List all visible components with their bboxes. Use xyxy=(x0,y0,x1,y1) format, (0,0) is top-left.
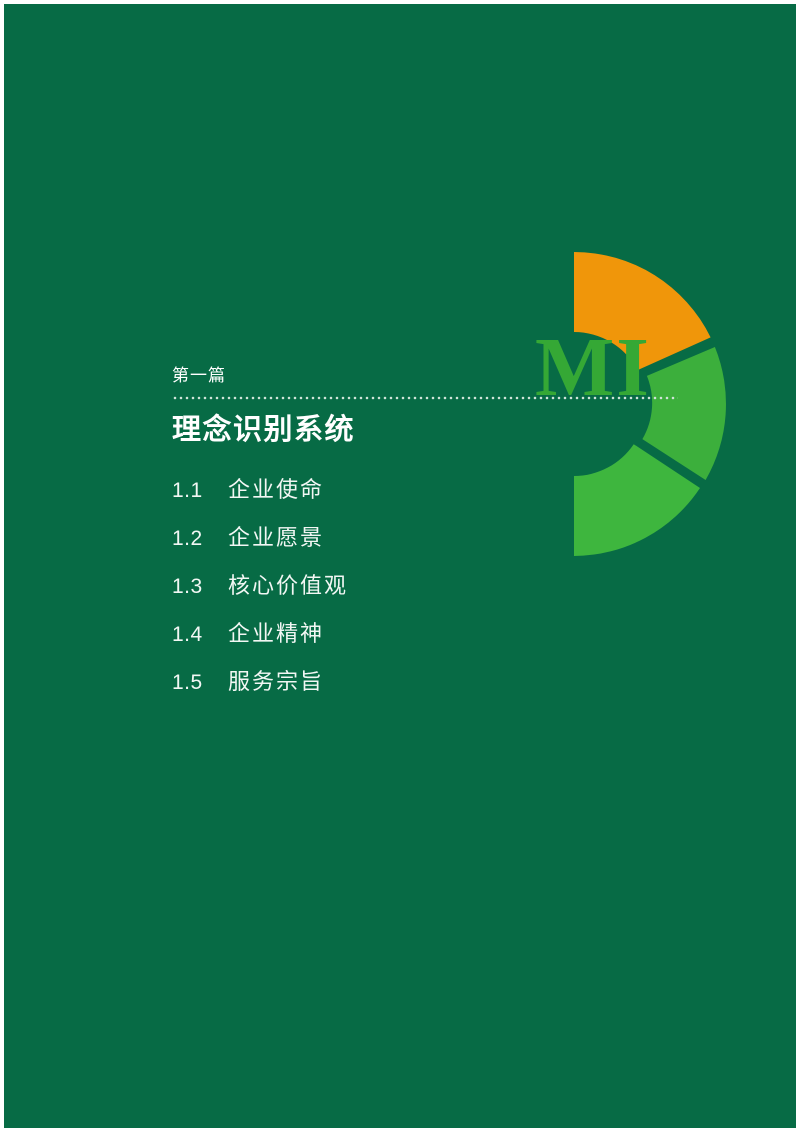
toc-item-label: 服务宗旨 xyxy=(228,664,324,696)
toc-item-1[interactable]: 1.1 企业使命 xyxy=(172,472,692,520)
toc-item-label: 企业愿景 xyxy=(228,520,324,552)
toc-item-label: 核心价值观 xyxy=(228,568,348,600)
section-title: 理念识别系统 xyxy=(172,410,692,450)
toc-item-4[interactable]: 1.4 企业精神 xyxy=(172,616,692,664)
toc-item-2[interactable]: 1.2 企业愿景 xyxy=(172,520,692,568)
part-label: 第一篇 xyxy=(172,364,692,388)
table-of-contents: 1.1 企业使命 1.2 企业愿景 1.3 核心价值观 1.4 企业精神 1.5 xyxy=(172,472,692,712)
toc-item-5[interactable]: 1.5 服务宗旨 xyxy=(172,664,692,712)
toc-item-3[interactable]: 1.3 核心价值观 xyxy=(172,568,692,616)
toc-item-number: 1.3 xyxy=(172,575,228,599)
toc-item-number: 1.1 xyxy=(172,479,228,503)
toc-item-number: 1.5 xyxy=(172,671,228,695)
toc-item-label: 企业使命 xyxy=(228,472,324,504)
toc-item-number: 1.4 xyxy=(172,623,228,647)
dotted-divider xyxy=(172,396,678,400)
document-page: MI 第一篇 理念识别系统 1.1 企业使命 1.2 企业愿景 1.3 核心价值… xyxy=(0,0,800,1132)
content-column: 第一篇 理念识别系统 1.1 企业使命 1.2 企业愿景 1.3 核心价值观 1… xyxy=(172,364,692,712)
toc-item-label: 企业精神 xyxy=(228,616,324,648)
page-canvas: MI 第一篇 理念识别系统 1.1 企业使命 1.2 企业愿景 1.3 核心价值… xyxy=(4,4,796,1128)
toc-item-number: 1.2 xyxy=(172,527,228,551)
